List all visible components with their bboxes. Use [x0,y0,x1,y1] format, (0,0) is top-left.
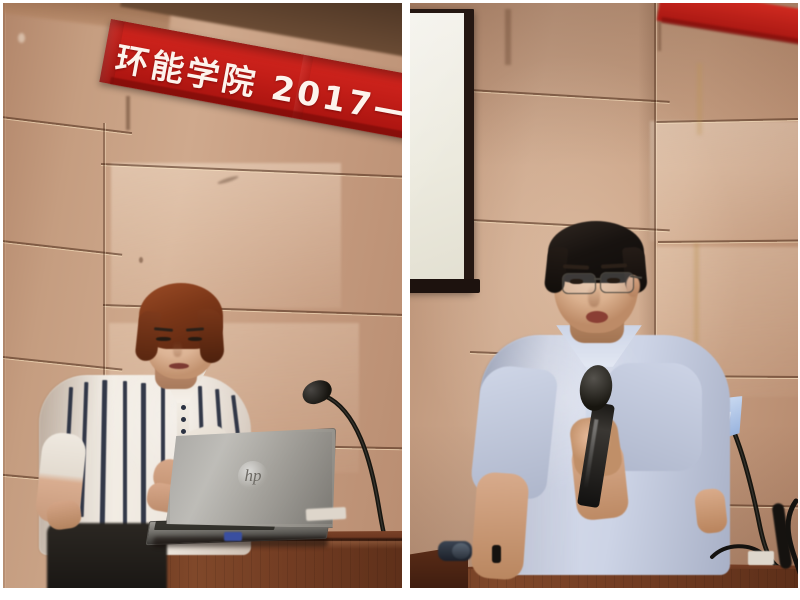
hp-logo-icon: hp [238,461,268,491]
speaker-nose [173,341,182,357]
wall-seam-vertical [3,3,5,588]
desk-white-paper [306,507,347,521]
speaker-eye [156,337,171,341]
speaker-hand-left [694,488,728,535]
speaker-eye [188,337,202,341]
cable-clip [492,545,501,563]
wall-mark [139,257,143,263]
eyeglasses-bridge [594,278,601,280]
blouse-stripe [161,386,165,464]
wall-panel-light [650,121,798,241]
speaker-forearm-left [470,471,529,580]
speaker-eye [570,279,583,284]
desk-blue-item [224,532,242,541]
speaker-eye [607,278,620,283]
projection-screen-glow [410,13,464,279]
speaker-nose [588,285,600,307]
cable-loop-icon [766,499,798,579]
speaker-mouth [169,363,189,369]
speaker-hair-back [197,308,225,364]
wall-panel-light [111,163,341,308]
right-photo: hp [410,3,798,588]
blouse-stripe [123,381,127,541]
blouse-button [181,405,186,410]
projection-screen-bottom-bar [410,279,480,293]
wall-mark [18,33,25,43]
wall-mark [694,243,699,343]
wall-mark [697,63,702,135]
left-photo: 环能学院 2017—20 [3,3,402,588]
wall-mark [126,96,130,130]
eyeglasses-on-desk-lens [452,543,470,559]
wall-mark [505,9,511,65]
blouse-button [181,417,186,422]
photo-collage: 环能学院 2017—20 [0,0,800,600]
speaker-mouth [586,311,608,323]
